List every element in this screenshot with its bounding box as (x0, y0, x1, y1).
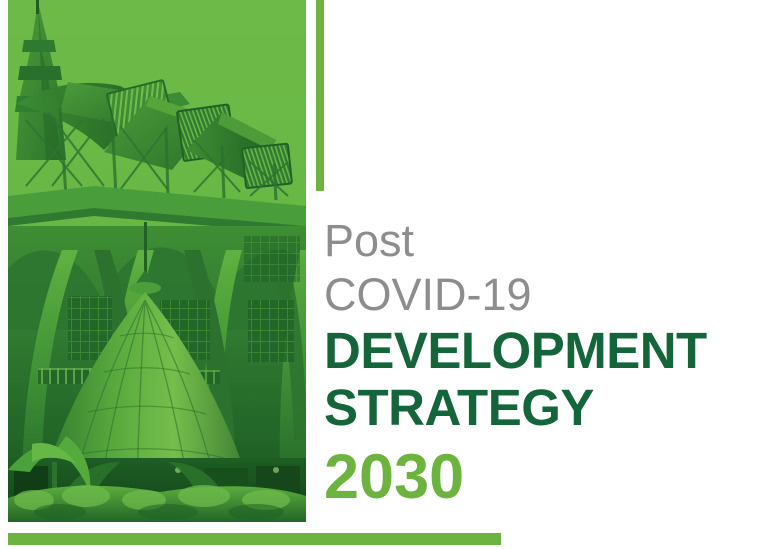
vertical-accent-rule (316, 0, 324, 191)
title-line-strategy: STRATEGY (324, 379, 744, 436)
building-photo-illustration (8, 0, 306, 522)
title-line-covid19: COVID-19 (324, 268, 744, 322)
title-line-post: Post (324, 214, 744, 268)
report-cover: Post COVID-19 DEVELOPMENT STRATEGY 2030 (0, 0, 761, 549)
cover-photo (8, 0, 306, 522)
title-line-development: DEVELOPMENT (324, 322, 744, 379)
title-year-2030: 2030 (324, 442, 744, 512)
cover-title-block: Post COVID-19 DEVELOPMENT STRATEGY 2030 (324, 214, 744, 512)
bottom-accent-bar (8, 533, 501, 545)
